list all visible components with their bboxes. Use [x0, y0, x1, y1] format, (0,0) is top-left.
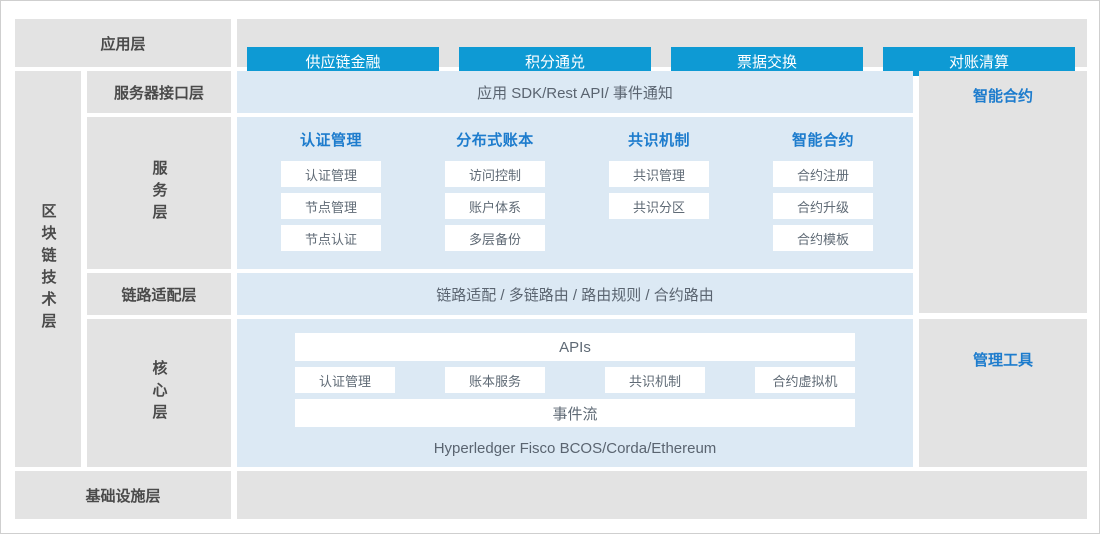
core-apis-bar[interactable]: APIs: [295, 333, 855, 361]
service-item-node-auth[interactable]: 节点认证: [281, 225, 381, 251]
service-layer-text: 服务层: [152, 160, 167, 226]
adapter-layer-label: 链路适配层: [87, 273, 231, 315]
server-interface-layer-label: 服务器接口层: [87, 71, 231, 113]
service-item-auth-mgmt[interactable]: 认证管理: [281, 161, 381, 187]
adapter-band: 链路适配 / 多链路由 / 路由规则 / 合约路由: [237, 273, 913, 315]
service-column-title-smart-contract: 智能合约: [741, 127, 905, 151]
side-panel-management-tools: 管理工具 日志查看 区块查看: [919, 319, 1087, 467]
service-layer-body: 认证管理 分布式账本 共识机制 智能合约 认证管理 节点管理 节点认证 访问控制…: [237, 117, 913, 269]
service-item-contract-upgrade[interactable]: 合约升级: [773, 193, 873, 219]
blockchain-tech-layer-label: 区块链技术层: [15, 71, 81, 467]
service-item-multilayer-backup[interactable]: 多层备份: [445, 225, 545, 251]
service-column-title-auth: 认证管理: [249, 127, 413, 151]
core-event-stream-bar[interactable]: 事件流: [295, 399, 855, 427]
core-module-contract-vm[interactable]: 合约虚拟机: [755, 367, 855, 393]
service-column-title-ledger: 分布式账本: [413, 127, 577, 151]
side-panel-management-tools-title: 管理工具: [919, 347, 1087, 371]
application-layer-label: 应用层: [15, 19, 231, 67]
core-layer-text: 核心层: [152, 360, 167, 426]
infrastructure-layer-strip: 服务器 公有云 私有云 Docker 虚拟机: [237, 471, 1087, 519]
sdk-band: 应用 SDK/Rest API/ 事件通知: [237, 71, 913, 113]
infrastructure-layer-label: 基础设施层: [15, 471, 231, 519]
service-item-node-mgmt[interactable]: 节点管理: [281, 193, 381, 219]
service-item-consensus-partition[interactable]: 共识分区: [609, 193, 709, 219]
service-column-title-consensus: 共识机制: [577, 127, 741, 151]
blockchain-tech-layer-text: 区块链技术层: [41, 203, 56, 335]
service-item-account-system[interactable]: 账户体系: [445, 193, 545, 219]
core-module-consensus[interactable]: 共识机制: [605, 367, 705, 393]
service-item-contract-register[interactable]: 合约注册: [773, 161, 873, 187]
application-layer-strip: 供应链金融 积分通兑 票据交换 对账清算: [237, 19, 1087, 67]
service-item-contract-template[interactable]: 合约模板: [773, 225, 873, 251]
service-item-consensus-mgmt[interactable]: 共识管理: [609, 161, 709, 187]
service-item-access-control[interactable]: 访问控制: [445, 161, 545, 187]
service-layer-label: 服务层: [87, 117, 231, 269]
side-panel-smart-contract: 智能合约 交易监控 资源监控 节点监控 监控告警 运行分析: [919, 71, 1087, 313]
core-layer-body: APIs 认证管理 账本服务 共识机制 合约虚拟机 事件流 Hyperledge…: [237, 319, 913, 467]
core-module-ledger-service[interactable]: 账本服务: [445, 367, 545, 393]
architecture-diagram: 应用层 供应链金融 积分通兑 票据交换 对账清算 区块链技术层 服务器接口层 服…: [0, 0, 1100, 534]
side-panel-smart-contract-title: 智能合约: [919, 83, 1087, 107]
core-module-auth-mgmt[interactable]: 认证管理: [295, 367, 395, 393]
core-engines-text: Hyperledger Fisco BCOS/Corda/Ethereum: [237, 431, 913, 465]
core-layer-label: 核心层: [87, 319, 231, 467]
